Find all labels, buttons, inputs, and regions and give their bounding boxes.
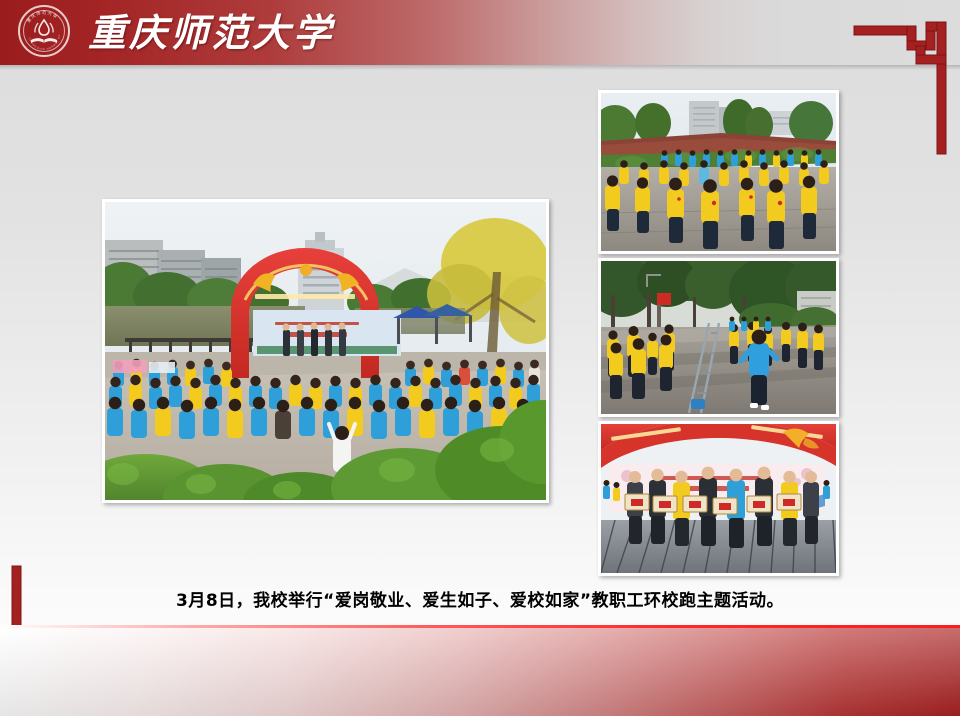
runners-yellow-shirts-photo (598, 90, 839, 254)
slide-canvas: 重庆师范大学 CHONGQING NORMAL UNIVERSITY 重庆师范大… (0, 0, 960, 720)
page-title: 重庆师范大学 (88, 6, 334, 60)
seal-emblem-icon: 重庆师范大学 CHONGQING NORMAL UNIVERSITY (18, 5, 74, 61)
opening-ceremony-image (105, 202, 546, 500)
award-ceremony-image (601, 424, 836, 573)
footer-hairline (0, 716, 960, 720)
runners-yellow-image (601, 93, 836, 251)
slide-caption: 3月8日，我校举行“爱岗敬业、爱生如子、爱校如家”教职工环校跑主题活动。 (0, 586, 960, 611)
opening-ceremony-photo (102, 199, 549, 503)
footer-band-shading (0, 628, 960, 720)
runners-road-guardrail-photo (598, 258, 839, 417)
award-ceremony-photo (598, 421, 839, 576)
corner-ornament-top-right-icon (840, 8, 948, 168)
university-seal-icon: 重庆师范大学 CHONGQING NORMAL UNIVERSITY (18, 5, 74, 61)
header-shadow (0, 65, 960, 70)
runners-guardrail-image (601, 261, 836, 414)
